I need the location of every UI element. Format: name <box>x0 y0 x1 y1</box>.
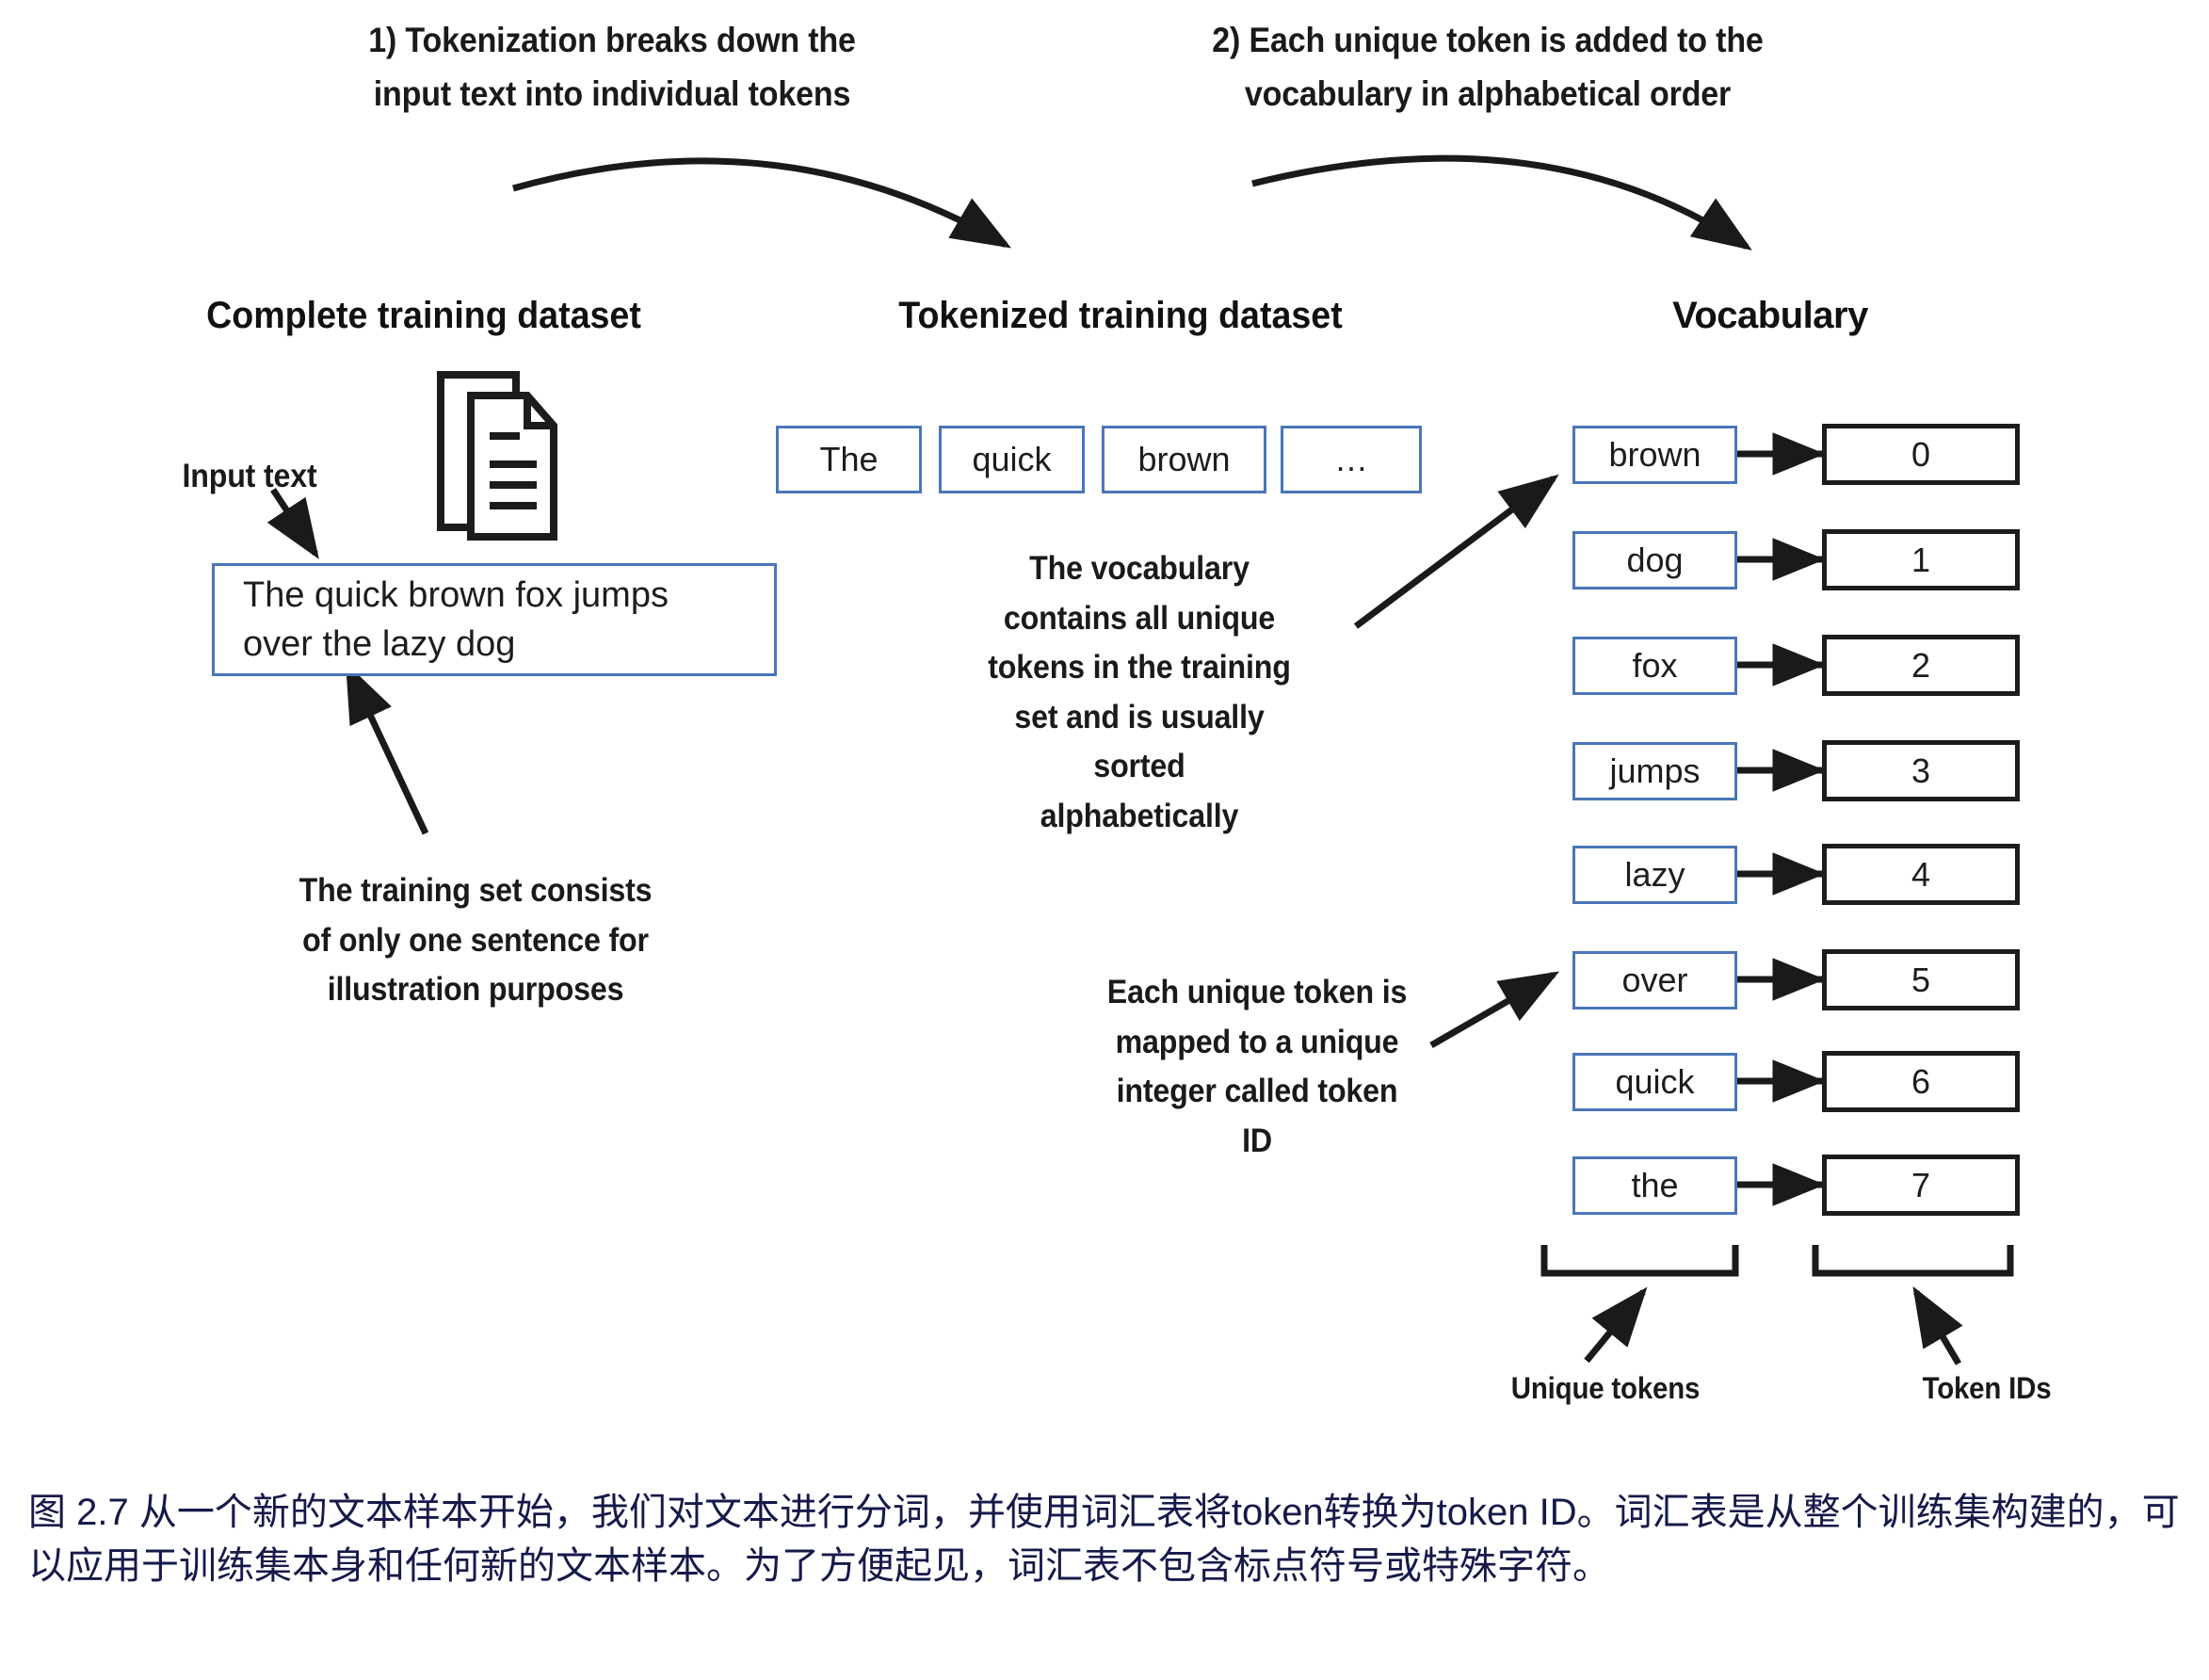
heading-tokenized-training-dataset: Tokenized training dataset <box>847 295 1395 337</box>
vocab-token-jumps[interactable]: jumps <box>1572 742 1737 800</box>
token-ids-brace <box>1815 1245 2010 1273</box>
label-token-ids: Token IDs <box>1865 1365 2108 1411</box>
curved-arrow-step-1 <box>513 161 1006 245</box>
vocab-token-lazy[interactable]: lazy <box>1572 846 1737 904</box>
training-set-note-arrow <box>348 669 426 833</box>
vocab-id-jumps[interactable]: 3 <box>1822 740 2020 801</box>
input-text-box[interactable]: The quick brown fox jumps over the lazy … <box>212 563 777 676</box>
token-id-note-arrow <box>1431 975 1554 1045</box>
token-box-brown[interactable]: brown <box>1102 426 1266 493</box>
vocab-token-fox[interactable]: fox <box>1572 637 1737 695</box>
vocab-id-over[interactable]: 5 <box>1822 949 2020 1010</box>
heading-vocabulary: Vocabulary <box>1582 295 1959 337</box>
unique-tokens-brace <box>1544 1245 1735 1273</box>
vocab-token-quick[interactable]: quick <box>1572 1053 1737 1111</box>
vocab-id-the[interactable]: 7 <box>1822 1155 2020 1216</box>
vocab-id-dog[interactable]: 1 <box>1822 529 2020 590</box>
vocab-id-quick[interactable]: 6 <box>1822 1051 2020 1112</box>
step-2-caption: 2) Each unique token is added to the voc… <box>1193 13 1782 121</box>
vocab-token-the[interactable]: the <box>1572 1156 1737 1215</box>
note-token-id-mapping: Each unique token is mapped to a unique … <box>1092 968 1422 1166</box>
document-stack-icon <box>441 375 554 537</box>
vocab-token-dog[interactable]: dog <box>1572 531 1737 590</box>
curved-arrow-step-2 <box>1252 158 1747 247</box>
vocab-token-brown[interactable]: brown <box>1572 426 1737 484</box>
vocab-token-over[interactable]: over <box>1572 951 1737 1010</box>
heading-complete-training-dataset: Complete training dataset <box>150 295 699 337</box>
note-training-set: The training set consists of only one se… <box>289 866 662 1015</box>
token-to-id-arrows <box>1737 454 1822 1185</box>
unique-tokens-label-arrow <box>1587 1292 1643 1361</box>
token-box-ellipsis[interactable]: … <box>1281 426 1422 493</box>
input-text-label: Input text <box>150 452 349 502</box>
vocab-id-lazy[interactable]: 4 <box>1822 844 2020 905</box>
vocab-id-fox[interactable]: 2 <box>1822 635 2020 696</box>
label-unique-tokens: Unique tokens <box>1462 1365 1749 1411</box>
vocab-id-brown[interactable]: 0 <box>1822 424 2020 485</box>
step-1-caption: 1) Tokenization breaks down the input te… <box>335 13 890 121</box>
figure-caption: 图 2.7 从一个新的文本样本开始，我们对文本进行分词，并使用词汇表将token… <box>28 1486 2185 1593</box>
token-box-the[interactable]: The <box>776 426 922 493</box>
token-ids-label-arrow <box>1916 1292 1959 1364</box>
note-vocabulary-contents: The vocabulary contains all unique token… <box>966 544 1313 841</box>
token-box-quick[interactable]: quick <box>939 426 1085 493</box>
vocabulary-note-arrow <box>1356 478 1554 626</box>
